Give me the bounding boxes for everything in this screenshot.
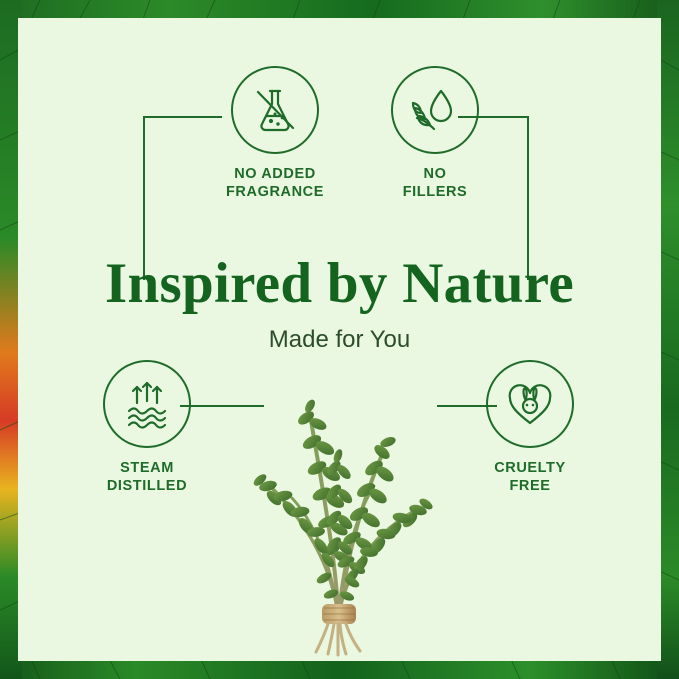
feature-label-line2: FREE [509,478,550,494]
poster-card: NO ADDED FRAGRANCE NO FILLE [18,18,661,661]
thyme-herb-bunch [188,346,488,658]
feature-label-line2: FRAGRANCE [226,184,324,200]
headline-block: Inspired by Nature Made for You [18,254,661,354]
feature-label-line1: CRUELTY [494,460,566,476]
feature-label-line1: NO ADDED [234,166,316,182]
feature-label: NO FILLERS [360,166,510,201]
feature-label: NO ADDED FRAGRANCE [200,166,350,201]
leaf-droplet-icon [408,83,462,137]
feature-icon-circle [103,360,191,448]
feature-label-line2: FILLERS [403,184,468,200]
feature-label-line2: DISTILLED [107,478,187,494]
flask-icon [248,83,302,137]
feature-icon-circle [486,360,574,448]
feature-icon-circle [231,66,319,154]
poster: NO ADDED FRAGRANCE NO FILLE [0,0,679,679]
feature-icon-circle [391,66,479,154]
steam-arrows-icon [120,377,174,431]
twine-tie [322,604,356,624]
heart-rabbit-icon [503,377,557,431]
feature-no-fillers: NO FILLERS [360,66,510,201]
feature-label-line1: NO [424,166,447,182]
feature-label-line1: STEAM [120,460,174,476]
headline: Inspired by Nature [18,254,661,314]
feature-no-added-fragrance: NO ADDED FRAGRANCE [200,66,350,201]
